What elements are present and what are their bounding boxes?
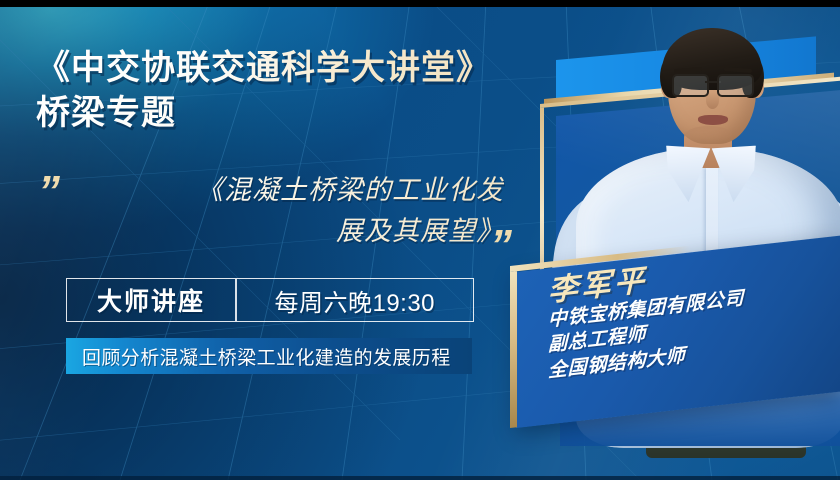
title-line-1: 《中交协联交通科学大讲堂》 xyxy=(36,46,556,91)
speaker-nose xyxy=(706,92,719,109)
poster-canvas: 李军平 中铁宝桥集团有限公司 副总工程师 全国钢结构大师 《中交协联交通科学大讲… xyxy=(0,0,840,480)
quote-mark-close: ” xyxy=(490,224,512,268)
lecture-type-label: 大师讲座 xyxy=(67,282,235,318)
quote-line-2: 展及其展望》 xyxy=(84,211,504,252)
quote-line-1: 《混凝土桥梁的工业化发 xyxy=(84,170,504,211)
letterbox-bottom xyxy=(0,476,840,480)
title-line-2: 桥梁专题 xyxy=(36,91,556,136)
speaker-chin xyxy=(686,126,732,142)
eyeglasses-icon xyxy=(672,74,754,94)
poster-title: 《中交协联交通科学大讲堂》 桥梁专题 xyxy=(36,46,556,136)
card-gold-edge-left xyxy=(510,271,517,428)
quote-mark-open: ” xyxy=(38,170,60,214)
schedule-box: 大师讲座 每周六晚19:30 xyxy=(66,278,474,322)
subtitle-banner: 回顾分析混凝土桥梁工业化建造的发展历程 xyxy=(66,338,472,374)
schedule-time: 每周六晚19:30 xyxy=(237,283,474,318)
quote-text: 《混凝土桥梁的工业化发 展及其展望》 xyxy=(84,170,504,251)
subtitle-banner-text: 回顾分析混凝土桥梁工业化建造的发展历程 xyxy=(66,343,451,370)
letterbox-top xyxy=(0,0,840,7)
speaker-mouth xyxy=(698,115,728,125)
